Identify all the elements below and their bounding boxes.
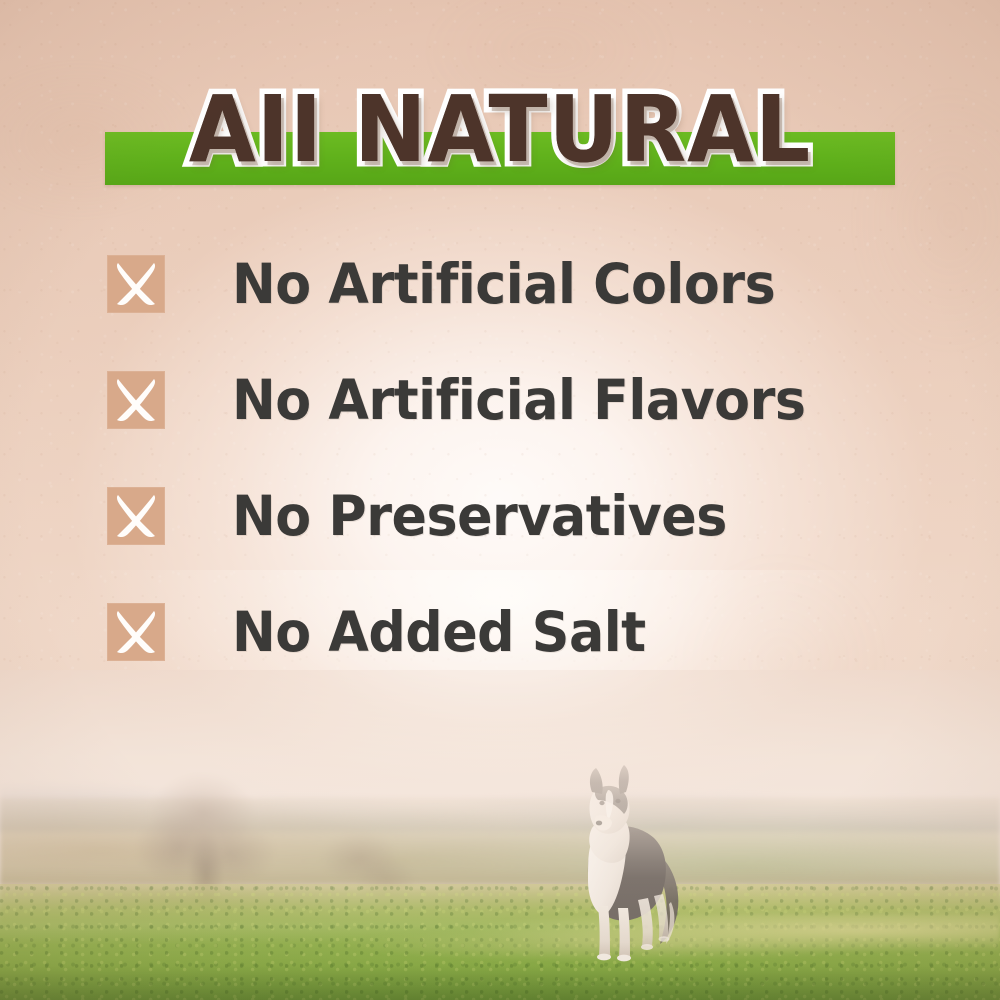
claim-row-no-preservatives: No Preservatives [0, 487, 1000, 545]
claim-label: No Preservatives [232, 487, 727, 545]
feature-graphic-canvas: AII NATURAL AII NATURAL No Artificial Co… [0, 0, 1000, 1000]
checkbox-no-preservatives [107, 487, 165, 545]
checkbox-no-added-salt [107, 603, 165, 661]
x-mark-icon [107, 603, 165, 661]
x-mark-icon [107, 255, 165, 313]
photo-mown-path [0, 914, 1000, 968]
background-photograph [0, 670, 1000, 1000]
x-mark-icon [107, 487, 165, 545]
claim-label: No Added Salt [232, 603, 646, 661]
x-mark-icon [107, 371, 165, 429]
photo-foreground-shadow [0, 966, 1000, 1000]
claim-label: No Artificial Colors [232, 255, 775, 313]
checkbox-no-artificial-colors [107, 255, 165, 313]
claim-row-no-added-salt: No Added Salt [0, 603, 1000, 661]
claim-row-no-artificial-colors: No Artificial Colors [0, 255, 1000, 313]
claim-row-no-artificial-flavors: No Artificial Flavors [0, 371, 1000, 429]
claims-list: No Artificial Colors No Artificial Flavo… [0, 255, 1000, 661]
claim-label: No Artificial Flavors [232, 371, 806, 429]
dog-photo-subject [538, 756, 698, 966]
headline-block: AII NATURAL AII NATURAL [0, 74, 1000, 200]
headline-text-fill: AII NATURAL [30, 74, 970, 186]
checkbox-no-artificial-flavors [107, 371, 165, 429]
